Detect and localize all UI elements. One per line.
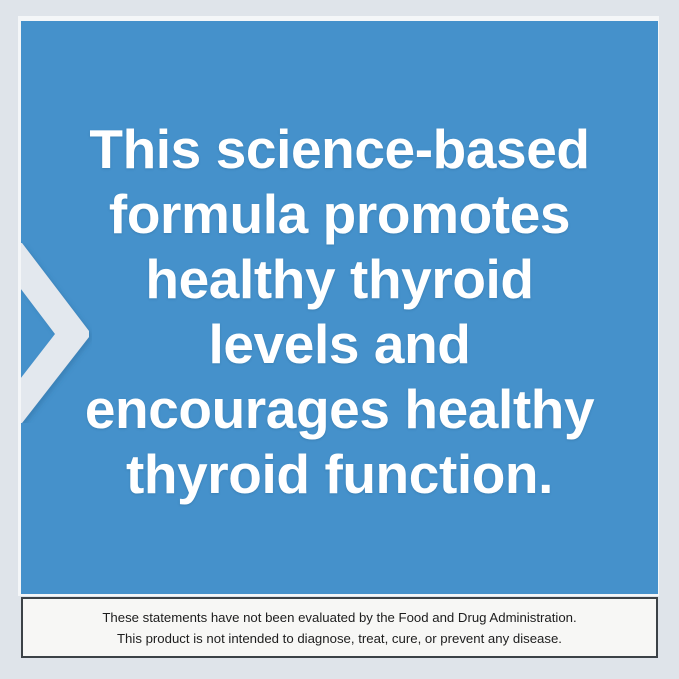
product-claim-card: This science-based formula promotes heal… (0, 0, 679, 679)
claim-headline: This science-based formula promotes heal… (21, 117, 658, 507)
disclaimer-box: These statements have not been evaluated… (21, 597, 658, 658)
disclaimer-line-not-intended: This product is not intended to diagnose… (117, 628, 562, 649)
disclaimer-line-fda: These statements have not been evaluated… (102, 607, 576, 628)
claim-panel: This science-based formula promotes heal… (21, 21, 658, 594)
